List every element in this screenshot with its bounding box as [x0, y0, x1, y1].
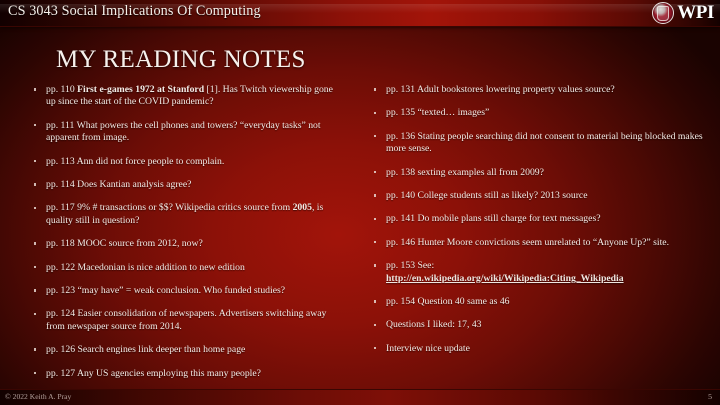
list-item-text: Interview nice update — [386, 343, 470, 354]
list-item-text: pp. 141 Do mobile plans still charge for… — [386, 213, 601, 224]
slide-footer-bar: © 2022 Keith A. Pray 5 — [0, 389, 720, 405]
wpi-logo: WPI — [652, 1, 714, 25]
list-item-text: pp. 127 Any US agencies employing this m… — [46, 368, 261, 379]
list-item: pp. 135 “texted… images” — [372, 107, 714, 119]
list-item: Questions I liked: 17, 43 — [372, 319, 714, 331]
list-item-text: Questions I liked: 17, 43 — [386, 319, 482, 330]
page-title: MY READING NOTES — [56, 46, 306, 74]
course-title: CS 3043 Social Implications Of Computing — [8, 3, 261, 20]
external-link[interactable]: http://en.wikipedia.org/wiki/Wikipedia:C… — [386, 273, 624, 284]
list-item-text: pp. 135 “texted… images” — [386, 107, 489, 118]
list-item: pp. 146 Hunter Moore convictions seem un… — [372, 237, 714, 249]
list-item: pp. 153 See:http://en.wikipedia.org/wiki… — [372, 260, 714, 285]
copyright-notice: © 2022 Keith A. Pray — [5, 392, 71, 401]
wpi-seal-icon — [652, 2, 674, 24]
list-item-text: pp. 153 See: — [386, 260, 434, 271]
wpi-wordmark: WPI — [677, 2, 714, 24]
bullet-marker-icon — [374, 88, 376, 90]
slide-body: pp. 110 First e-games 1972 at Stanford [… — [0, 84, 720, 391]
list-item-text: pp. 131 Adult bookstores lowering proper… — [386, 84, 615, 95]
bullet-marker-icon — [374, 218, 376, 220]
list-item: pp. 131 Adult bookstores lowering proper… — [372, 84, 714, 96]
list-item-text: pp. 136 Stating people searching did not… — [386, 131, 703, 154]
list-item: Interview nice update — [372, 343, 714, 355]
bullet-marker-icon — [374, 171, 376, 173]
list-item: pp. 140 College students still as likely… — [372, 190, 714, 202]
list-item: pp. 154 Question 40 same as 46 — [372, 296, 714, 308]
slide-header-bar: CS 3043 Social Implications Of Computing… — [0, 0, 720, 27]
bullet-marker-icon — [374, 112, 376, 114]
bullet-marker-icon — [374, 194, 376, 196]
list-item: pp. 138 sexting examples all from 2009? — [372, 167, 714, 179]
list-item: pp. 136 Stating people searching did not… — [372, 131, 714, 156]
list-item-text: pp. 140 College students still as likely… — [386, 190, 588, 201]
presentation-slide: CS 3043 Social Implications Of Computing… — [0, 0, 720, 405]
list-item-text: pp. 146 Hunter Moore convictions seem un… — [386, 237, 669, 248]
bullet-column-right: pp. 131 Adult bookstores lowering proper… — [0, 84, 720, 366]
bullet-marker-icon — [374, 135, 376, 137]
list-item: pp. 127 Any US agencies employing this m… — [32, 368, 336, 380]
list-item-text: pp. 154 Question 40 same as 46 — [386, 296, 510, 307]
list-item: pp. 141 Do mobile plans still charge for… — [372, 213, 714, 225]
bullet-marker-icon — [34, 372, 36, 374]
bullet-marker-icon — [374, 241, 376, 243]
page-number: 5 — [708, 392, 712, 401]
bullet-marker-icon — [374, 264, 376, 266]
list-item-text: pp. 138 sexting examples all from 2009? — [386, 167, 544, 178]
bullet-marker-icon — [374, 324, 376, 326]
bullet-marker-icon — [374, 347, 376, 349]
bullet-marker-icon — [374, 300, 376, 302]
